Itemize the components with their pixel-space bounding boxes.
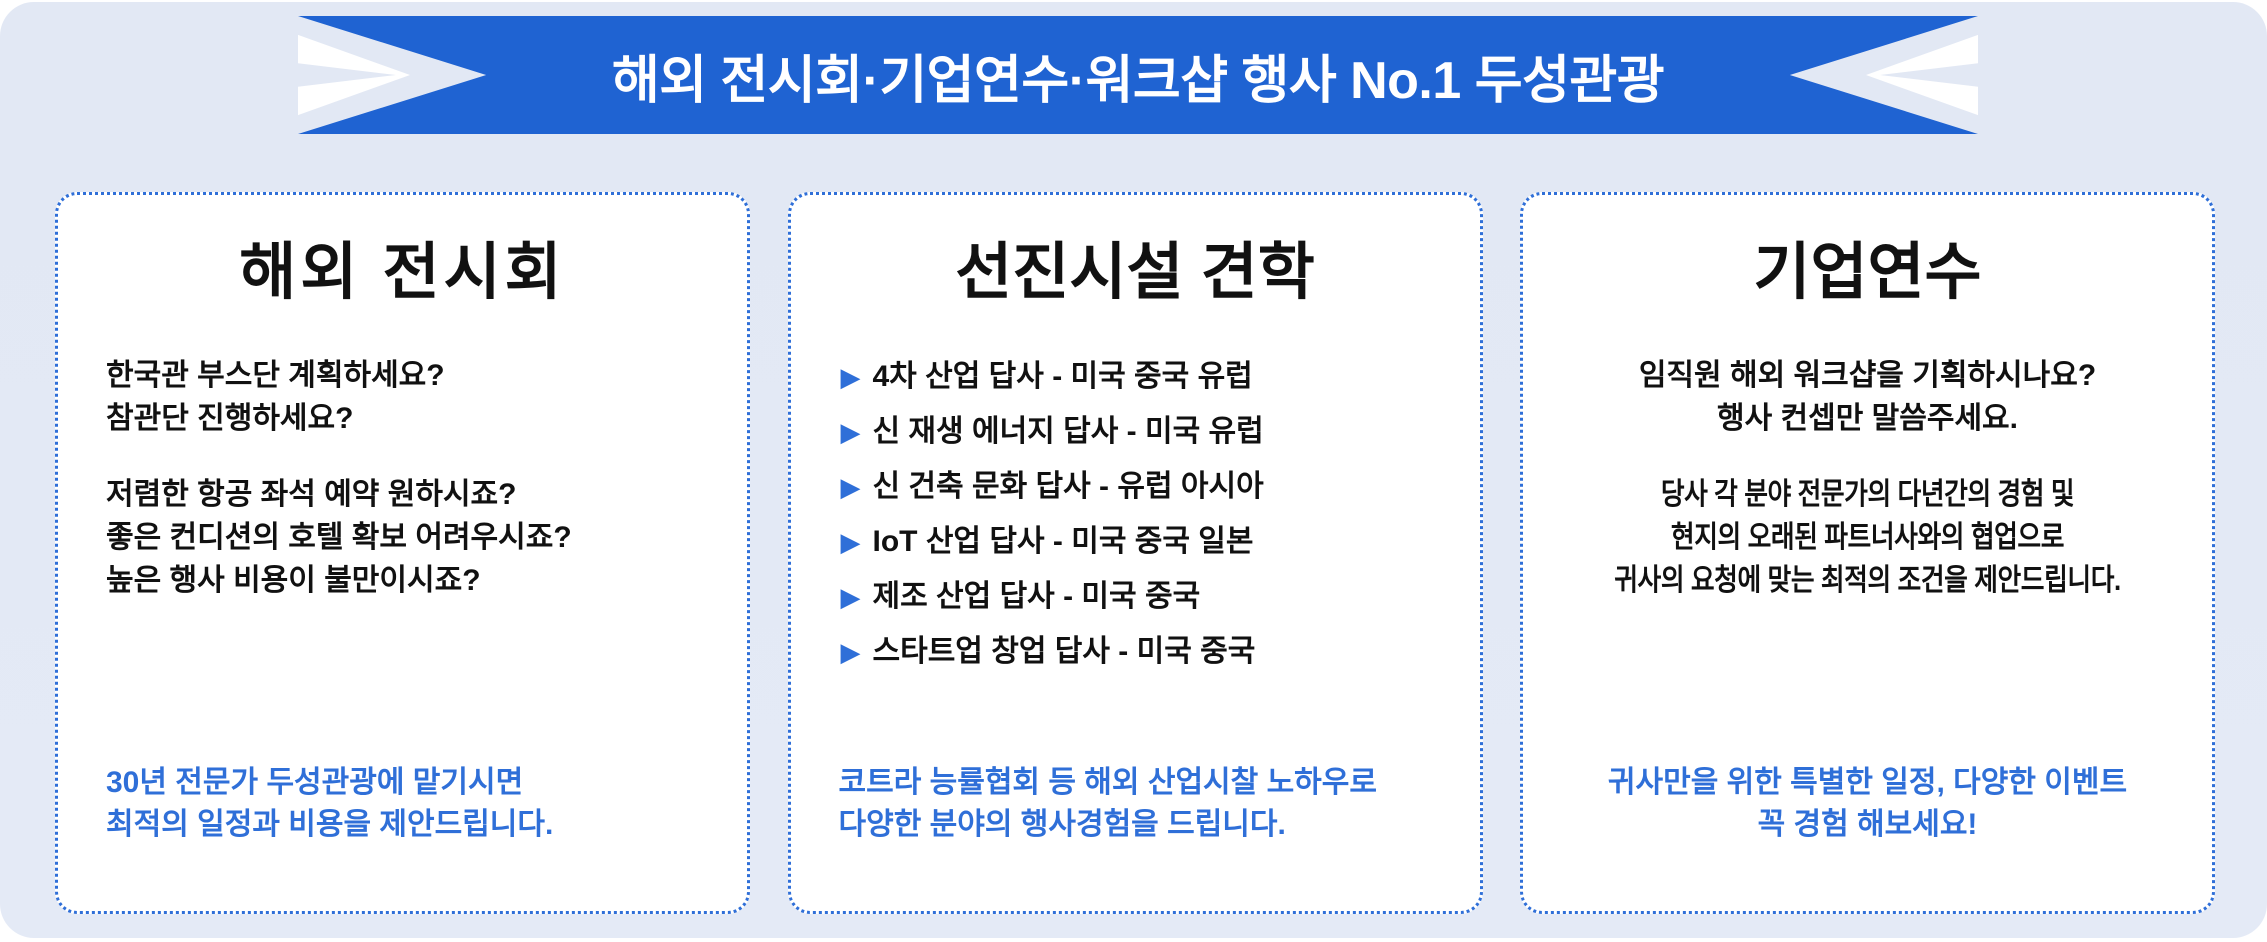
header-ribbon: 해외 전시회·기업연수·워크샵 행사 No.1 두성관광: [298, 16, 1978, 134]
list-item[interactable]: ▶ 신 재생 에너지 답사 - 미국 유럽: [841, 406, 1454, 450]
list-item[interactable]: ▶ 4차 산업 답사 - 미국 중국 유럽: [841, 351, 1454, 395]
flex-spacer: [84, 602, 721, 762]
list-item[interactable]: ▶ IoT 산업 답사 - 미국 중국 일본: [841, 516, 1454, 560]
list-item-label: IoT 산업 답사 - 미국 중국 일본: [873, 516, 1254, 560]
triangle-bullet-icon: ▶: [841, 639, 861, 665]
triangle-bullet-icon: ▶: [841, 529, 861, 555]
text-line: 행사 컨셉만 말씀주세요.: [1549, 398, 2186, 441]
paragraph: 당사 각 분야 전문가의 다년간의 경험 및 현지의 오래된 파트너사와의 협업…: [1594, 474, 2142, 602]
list-item[interactable]: ▶ 신 건축 문화 답사 - 유럽 아시아: [841, 461, 1454, 505]
paragraph: 한국관 부스단 계획하세요? 참관단 진행하세요?: [106, 355, 721, 440]
list-item[interactable]: ▶ 스타트업 창업 답사 - 미국 중국: [841, 626, 1454, 670]
card-advanced-facility-tour[interactable]: 선진시설 견학 ▶ 4차 산업 답사 - 미국 중국 유럽 ▶ 신 재생 에너지…: [788, 192, 1483, 914]
list-item-label: 제조 산업 답사 - 미국 중국: [873, 571, 1201, 615]
triangle-bullet-icon: ▶: [841, 584, 861, 610]
list-item-label: 신 재생 에너지 답사 - 미국 유럽: [873, 406, 1264, 450]
text-line: 현지의 오래된 파트너사와의 협업으로: [1594, 517, 2142, 560]
list-item-label: 4차 산업 답사 - 미국 중국 유럽: [873, 351, 1253, 395]
card-body: 임직원 해외 워크샵을 기획하시나요? 행사 컨셉만 말씀주세요. 당사 각 분…: [1549, 355, 2186, 602]
flex-spacer: [817, 670, 1454, 762]
card-title: 기업연수: [1549, 239, 2186, 307]
card-footer-highlight: 귀사만을 위한 특별한 일정, 다양한 이벤트 꼭 경험 해보세요!: [1549, 762, 2186, 847]
text-line: 참관단 진행하세요?: [106, 398, 721, 441]
text-line: 임직원 해외 워크샵을 기획하시나요?: [1549, 355, 2186, 398]
triangle-bullet-icon: ▶: [841, 419, 861, 445]
text-line: 당사 각 분야 전문가의 다년간의 경험 및: [1594, 474, 2142, 517]
text-line: 최적의 일정과 비용을 제안드립니다.: [106, 804, 721, 847]
text-line: 저렴한 항공 좌석 예약 원하시죠?: [106, 474, 721, 517]
text-line: 높은 행사 비용이 불만이시죠?: [106, 560, 721, 603]
flex-spacer: [1549, 602, 2186, 762]
text-line: 코트라 능률협회 등 해외 산업시찰 노하우로: [839, 762, 1454, 805]
tour-program-list: ▶ 4차 산업 답사 - 미국 중국 유럽 ▶ 신 재생 에너지 답사 - 미국…: [817, 351, 1454, 670]
text-line: 다양한 분야의 행사경험을 드립니다.: [839, 804, 1454, 847]
text-line: 귀사의 요청에 맞는 최적의 조건을 제안드립니다.: [1594, 560, 2142, 603]
promo-banner: 해외 전시회·기업연수·워크샵 행사 No.1 두성관광 해외 전시회 한국관 …: [0, 0, 2267, 942]
text-line: 꼭 경험 해보세요!: [1549, 804, 2186, 847]
card-footer-highlight: 30년 전문가 두성관광에 맡기시면 최적의 일정과 비용을 제안드립니다.: [84, 762, 721, 847]
card-title: 선진시설 견학: [817, 239, 1454, 307]
banner-header-title: 해외 전시회·기업연수·워크샵 행사 No.1 두성관광: [298, 16, 1978, 134]
text-line: 한국관 부스단 계획하세요?: [106, 355, 721, 398]
paragraph: 임직원 해외 워크샵을 기획하시나요? 행사 컨셉만 말씀주세요.: [1549, 355, 2186, 440]
list-item[interactable]: ▶ 제조 산업 답사 - 미국 중국: [841, 571, 1454, 615]
card-corporate-training[interactable]: 기업연수 임직원 해외 워크샵을 기획하시나요? 행사 컨셉만 말씀주세요. 당…: [1520, 192, 2215, 914]
list-item-label: 신 건축 문화 답사 - 유럽 아시아: [873, 461, 1264, 505]
triangle-bullet-icon: ▶: [841, 474, 861, 500]
paragraph: 저렴한 항공 좌석 예약 원하시죠? 좋은 컨디션의 호텔 확보 어려우시죠? …: [106, 474, 721, 602]
card-overseas-exhibition[interactable]: 해외 전시회 한국관 부스단 계획하세요? 참관단 진행하세요? 저렴한 항공 …: [55, 192, 750, 914]
triangle-bullet-icon: ▶: [841, 364, 861, 390]
text-line: 좋은 컨디션의 호텔 확보 어려우시죠?: [106, 517, 721, 560]
card-footer-highlight: 코트라 능률협회 등 해외 산업시찰 노하우로 다양한 분야의 행사경험을 드립…: [817, 762, 1454, 847]
card-body: 한국관 부스단 계획하세요? 참관단 진행하세요? 저렴한 항공 좌석 예약 원…: [84, 355, 721, 602]
list-item-label: 스타트업 창업 답사 - 미국 중국: [873, 626, 1256, 670]
feature-card-row: 해외 전시회 한국관 부스단 계획하세요? 참관단 진행하세요? 저렴한 항공 …: [55, 192, 2215, 914]
text-line: 30년 전문가 두성관광에 맡기시면: [106, 762, 721, 805]
card-title: 해외 전시회: [84, 239, 721, 307]
text-line: 귀사만을 위한 특별한 일정, 다양한 이벤트: [1549, 762, 2186, 805]
